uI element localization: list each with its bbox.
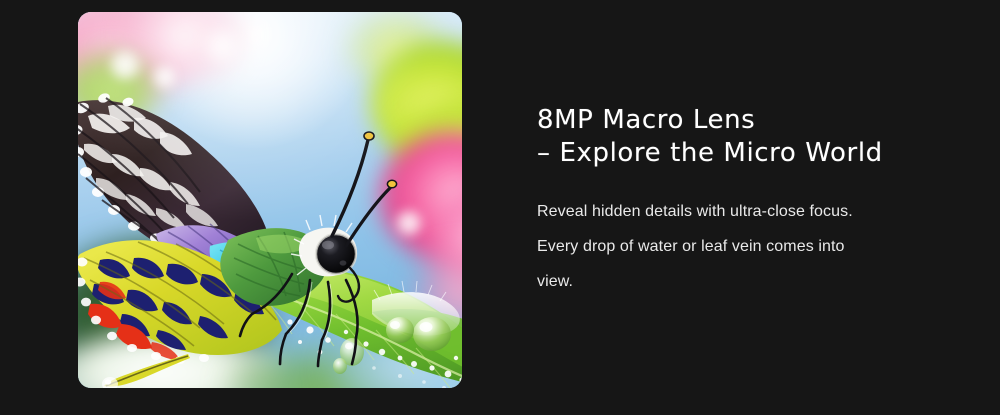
macro-butterfly-photo [78,12,462,388]
feature-copy-block: 8MP Macro Lens – Explore the Micro World… [537,104,937,299]
macro-lens-feature-banner: 8MP Macro Lens – Explore the Micro World… [0,0,1000,415]
feature-description: Reveal hidden details with ultra-close f… [537,194,877,299]
photo-canvas [78,12,462,388]
butterfly-subject [78,58,380,388]
bokeh-highlight-4 [394,208,424,238]
page-title: 8MP Macro Lens – Explore the Micro World [537,104,937,170]
